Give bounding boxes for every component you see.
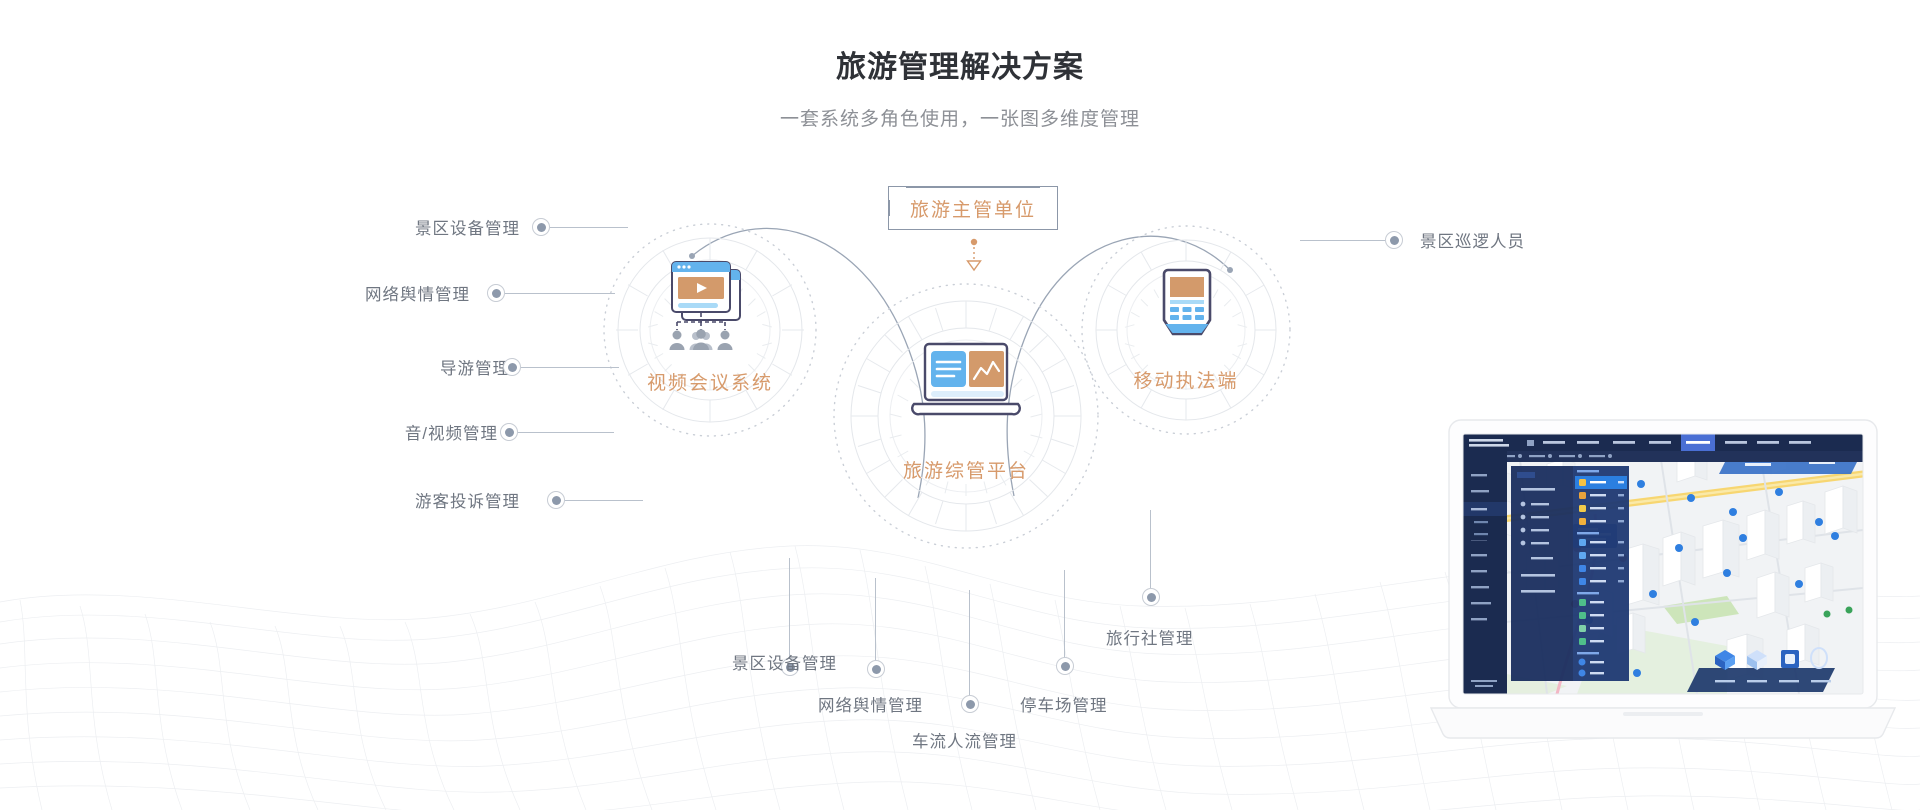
label-left-0[interactable]: 景区设备管理 [300,215,520,239]
dot-left-0 [532,218,550,236]
dot-left-2 [503,358,521,376]
dot-left-1 [487,284,505,302]
authority-label: 旅游主管单位 [888,186,1058,230]
connector-bottom-2 [969,590,970,695]
label-left-2[interactable]: 导游管理 [290,355,510,379]
video-window-icon [658,260,762,360]
label-left-4[interactable]: 游客投诉管理 [300,488,520,512]
dot-right-0 [1385,231,1403,249]
label-right-0[interactable]: 景区巡逻人员 [1420,228,1525,252]
authority-down-arrow-icon [959,238,989,272]
connector-bottom-0 [789,558,790,663]
page-title: 旅游管理解决方案 [0,42,1920,86]
node-video-conference[interactable]: 视频会议系统 [600,220,820,440]
connector-bottom-3 [1064,570,1065,665]
node-caption-tourism-platform: 旅游综管平台 [830,456,1102,483]
mobile-device-icon [1158,268,1216,348]
label-bottom-3[interactable]: 停车场管理 [1020,692,1108,716]
page-subtitle: 一套系统多角色使用，一张图多维度管理 [0,104,1920,131]
solution-diagram-page: 旅游管理解决方案 一套系统多角色使用，一张图多维度管理 旅游主管单位 [0,0,1920,810]
dot-bottom-3 [1056,657,1074,675]
label-bottom-1[interactable]: 网络舆情管理 [818,692,923,716]
connector-left-2 [521,367,619,368]
node-caption-mobile-enforcement: 移动执法端 [1078,366,1294,393]
label-bottom-0[interactable]: 景区设备管理 [732,650,837,674]
laptop-screen-content [1463,434,1863,694]
laptop-mockup[interactable] [1427,418,1899,766]
node-caption-video-conference: 视频会议系统 [600,368,820,395]
laptop-dashboard-icon [908,340,1024,426]
label-left-1[interactable]: 网络舆情管理 [250,281,470,305]
authority-box: 旅游主管单位 [888,186,1058,230]
connector-right-0 [1300,240,1385,241]
connector-left-3 [518,432,614,433]
connector-bottom-4 [1150,510,1151,588]
node-mobile-enforcement[interactable]: 移动执法端 [1078,222,1294,438]
connector-left-1 [505,293,615,294]
dot-bottom-4 [1142,588,1160,606]
label-bottom-4[interactable]: 旅行社管理 [1106,625,1194,649]
connector-left-0 [550,227,628,228]
node-tourism-platform[interactable]: 旅游综管平台 [830,280,1102,552]
label-left-3[interactable]: 音/视频管理 [278,420,498,444]
dot-left-3 [500,423,518,441]
connector-left-4 [565,500,643,501]
label-bottom-2[interactable]: 车流人流管理 [912,728,1017,752]
dot-bottom-1 [867,660,885,678]
dot-bottom-2 [961,695,979,713]
dot-left-4 [547,491,565,509]
